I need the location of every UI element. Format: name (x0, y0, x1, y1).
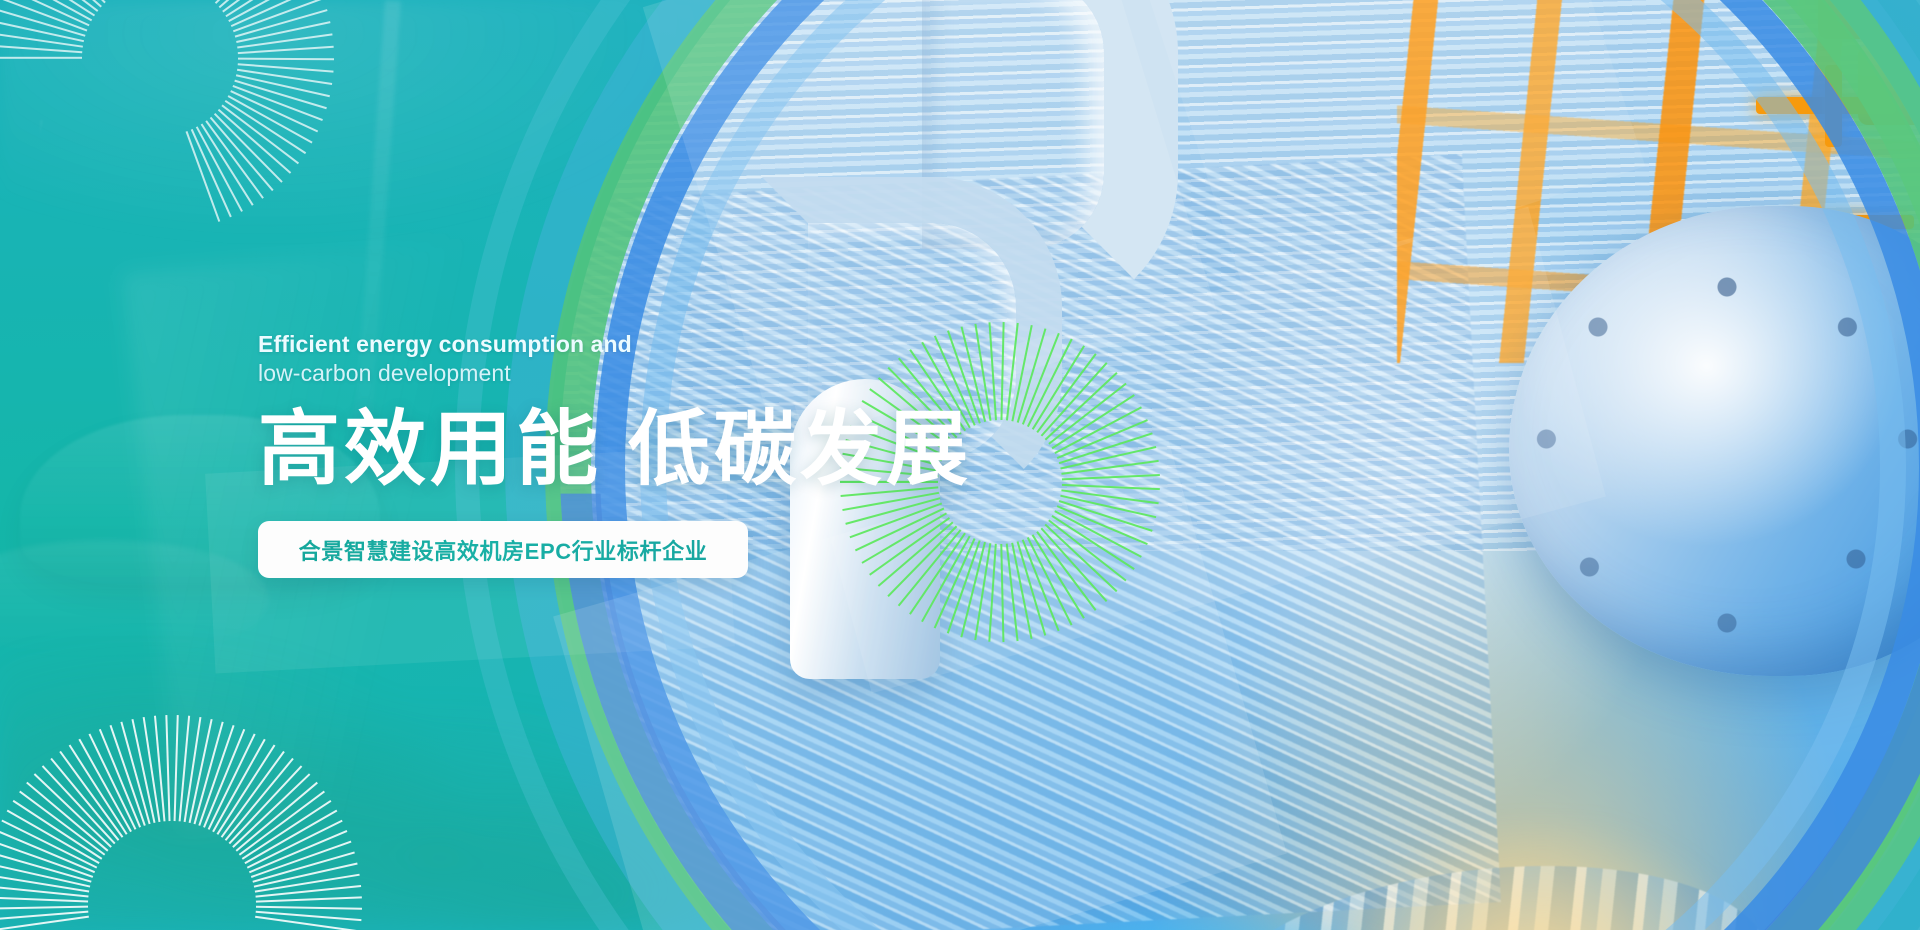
background-ghost-tank-secondary (0, 540, 270, 660)
sunburst-ray (184, 717, 202, 822)
sunburst-ray (20, 0, 98, 12)
sunburst-ray (236, 21, 330, 42)
sunburst-ray (222, 0, 300, 12)
sunburst-ray (234, 80, 326, 109)
sunburst-ray (218, 109, 291, 174)
sunburst-ray (236, 782, 318, 852)
sunburst-ray (225, 758, 294, 841)
sunburst-ray (131, 719, 155, 823)
sunburst-ray (26, 782, 108, 852)
photo-flange-bolts (1512, 263, 1920, 663)
sunburst-ray (203, 729, 245, 828)
sunburst-ray (225, 100, 306, 154)
sunburst-ray (237, 33, 332, 48)
sunburst-ray (0, 0, 87, 31)
sunburst-ray (13, 800, 103, 860)
sunburst-ray (237, 69, 332, 85)
hero-copy-block: Efficient energy consumption and low-car… (258, 330, 1018, 494)
sunburst-ray (210, 117, 274, 191)
sunburst-ray (19, 791, 105, 856)
sunburst-ray (34, 773, 112, 847)
sunburst-ray (0, 8, 85, 37)
sunburst-ray (0, 20, 84, 42)
sunburst-ray (174, 715, 179, 821)
sunburst-ray (7, 810, 100, 864)
sunburst-ray (0, 874, 89, 893)
sunburst-ray (0, 885, 89, 898)
sunburst-ray (120, 722, 150, 825)
sunburst-ray (28, 0, 102, 7)
sunburst-ray (215, 0, 284, 4)
headline-part-right: 低碳发展 (628, 404, 972, 495)
sunburst-ray (236, 74, 330, 97)
sunburst-ray (251, 841, 352, 878)
sunburst-ray (222, 105, 299, 164)
photo-valve-stem-2 (1825, 65, 1842, 147)
sunburst-ray (247, 820, 343, 869)
sunburst-ray (239, 791, 325, 856)
sunburst-ray (0, 852, 92, 883)
sunburst-ray (1, 0, 89, 26)
sunburst-ray (1, 820, 97, 869)
sunburst-ray (221, 751, 285, 838)
sunburst-ray (238, 46, 334, 54)
sunburst-ray (0, 32, 83, 47)
page-title: 高效用能低碳发展 (258, 407, 1018, 494)
sunburst-ray (143, 717, 161, 822)
sunburst-ray (69, 745, 128, 835)
sunburst-ray (256, 911, 362, 921)
sunburst-ray (255, 885, 361, 898)
headline-part-left: 高效用能 (258, 404, 602, 495)
sunburst-ray (254, 863, 358, 888)
sunburst-ray (179, 716, 190, 822)
english-tagline-line1: Efficient energy consumption and (258, 330, 1018, 359)
sunburst-ray (249, 830, 347, 873)
sunburst-ray (7, 0, 92, 21)
sunburst-ray (206, 120, 264, 198)
sunburst-ray (255, 874, 360, 893)
sunburst-ray (235, 9, 328, 37)
sunburst-ray (37, 0, 106, 3)
sunburst-ray (238, 58, 334, 60)
sunburst-ray (233, 0, 324, 32)
sunburst-ray (0, 830, 95, 873)
sunburst-ray (0, 906, 88, 910)
sunburst-ray (255, 916, 360, 930)
english-tagline-line2: low-carbon development (258, 359, 1018, 388)
sunburst-ray (228, 0, 313, 22)
sunburst-ray (217, 745, 276, 835)
sunburst-ray (219, 0, 293, 8)
sunburst-ray (230, 90, 318, 132)
sunburst-ray (191, 129, 232, 217)
sunburst-ray (154, 716, 165, 822)
sunburst-ray (238, 63, 334, 72)
sunburst-ray (233, 85, 323, 121)
sunburst-ray (50, 758, 119, 841)
sunburst-ray (0, 57, 82, 59)
sunburst-top-left-icon (0, 0, 420, 318)
sunburst-ray (13, 0, 95, 16)
sunburst-ray (228, 95, 313, 143)
sunburst-ray (212, 739, 265, 832)
sunburst-ray (229, 765, 303, 844)
sunburst-ray (0, 911, 88, 921)
sunburst-ray (88, 734, 136, 830)
sunburst-ray (242, 800, 332, 860)
sunburst-ray (42, 765, 116, 844)
sunburst-bottom-left-icon (0, 605, 472, 930)
sunburst-ray (214, 113, 283, 182)
sunburst-ray (232, 773, 310, 847)
sunburst-ray (0, 916, 89, 930)
photo-orange-valve-body (1818, 0, 1920, 39)
sunburst-ray (201, 124, 254, 206)
sunburst-ray (99, 729, 141, 828)
sunburst-ray (165, 715, 170, 821)
sunburst-ray (59, 751, 123, 838)
sunburst-ray (78, 739, 131, 832)
sunburst-ray (225, 0, 307, 17)
sunburst-ray (256, 896, 362, 902)
sunburst-ray (189, 719, 213, 823)
sunburst-ray (256, 906, 362, 910)
sunburst-ray (244, 810, 337, 864)
background-ghost-structure (40, 120, 600, 880)
sunburst-ray (252, 851, 354, 882)
tagline-pill-button[interactable]: 合景智慧建设高效机房EPC行业标杆企业 (258, 521, 748, 578)
sunburst-ray (193, 722, 223, 825)
sunburst-ray (198, 725, 234, 826)
sunburst-ray (196, 126, 243, 211)
tagline-pill-label: 合景智慧建设高效机房EPC行业标杆企业 (299, 534, 708, 566)
sunburst-ray (0, 841, 93, 878)
sunburst-ray (0, 896, 88, 902)
sunburst-ray (0, 863, 90, 888)
sunburst-ray (186, 131, 220, 222)
hero-banner: Efficient energy consumption and low-car… (0, 0, 1920, 930)
sunburst-ray (231, 0, 319, 27)
photo-floor-reflection (1222, 823, 1862, 930)
sunburst-ray (0, 45, 82, 53)
sunburst-ray (110, 725, 146, 826)
sunburst-ray (208, 734, 256, 830)
